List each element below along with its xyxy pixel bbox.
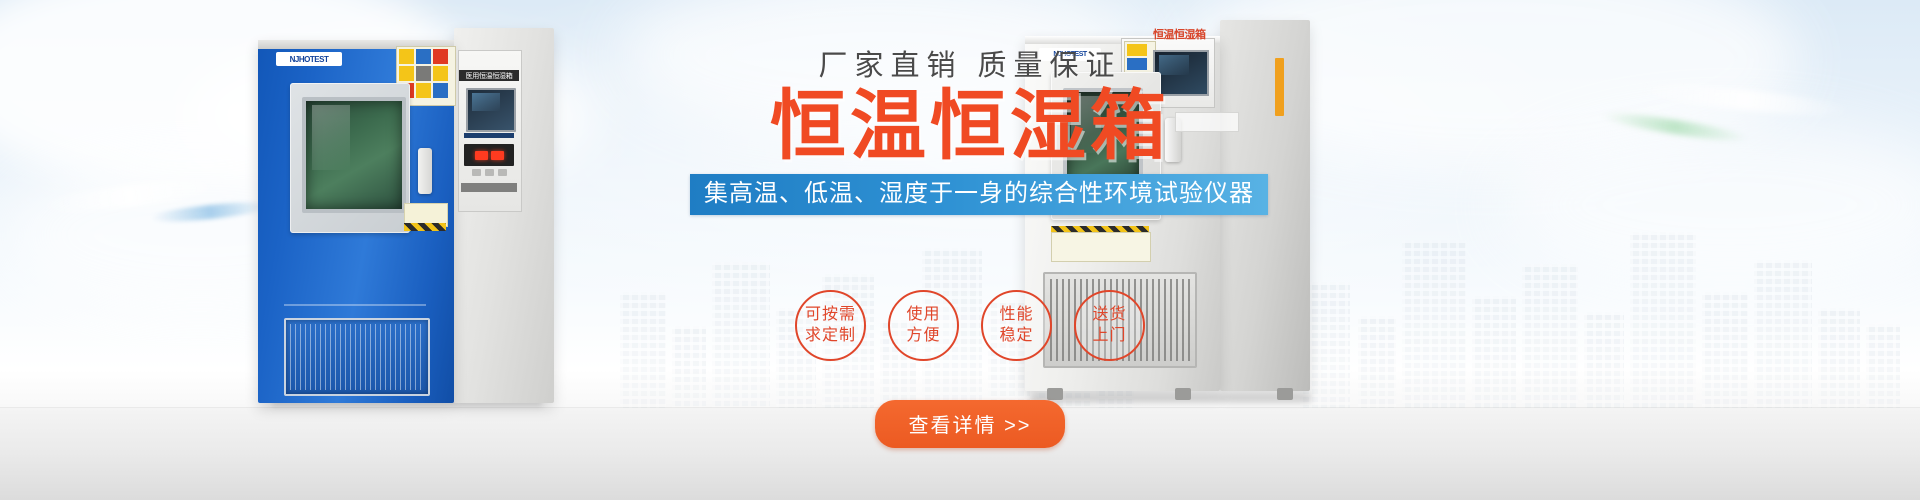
chamber-foot	[1277, 388, 1293, 400]
badge-line-1: 使用	[906, 305, 940, 325]
chamber-foot	[1047, 388, 1063, 400]
control-panel-screen	[466, 88, 516, 132]
badge-line-2: 稳定	[999, 326, 1033, 346]
chamber-door	[290, 83, 410, 233]
chamber-seam	[284, 304, 426, 306]
banner-subtitle-bar: 集高温、低温、湿度于一身的综合性环境试验仪器	[690, 174, 1268, 215]
control-panel-strip	[464, 133, 514, 138]
city-skyline-right	[1300, 212, 1900, 412]
chamber-vent-grille	[284, 318, 430, 396]
badge-line-2: 方便	[906, 326, 940, 346]
product-image-blue-chamber: NJHOTEST 医用恒温恒湿箱	[258, 28, 558, 403]
badge-line-2: 上门	[1092, 326, 1126, 346]
chamber-brand-text: 恒温恒湿箱	[1153, 26, 1219, 40]
feature-badge-row: 可按需 求定制 使用 方便 性能 稳定 送货 上门	[690, 290, 1250, 361]
cta-wrapper: 查看详情 >>	[690, 400, 1250, 448]
hazard-stripe	[404, 223, 446, 231]
promo-banner: NJHOTEST 医用恒温恒湿箱 NJHOTEST	[0, 0, 1920, 500]
chamber-logo: NJHOTEST	[276, 52, 342, 66]
chamber-foot	[1175, 388, 1191, 400]
feature-badge-stable[interactable]: 性能 稳定	[981, 290, 1052, 361]
control-panel-title: 医用恒温恒湿箱	[459, 70, 519, 81]
chamber-door-handle	[418, 148, 432, 194]
chamber-viewing-window	[302, 97, 406, 213]
badge-line-1: 送货	[1092, 305, 1126, 325]
chamber-orange-accent	[1275, 58, 1284, 116]
badge-line-2: 求定制	[805, 326, 856, 346]
feature-badge-custom[interactable]: 可按需 求定制	[795, 290, 866, 361]
badge-line-1: 性能	[999, 305, 1033, 325]
view-details-button[interactable]: 查看详情 >>	[875, 400, 1066, 448]
chamber-info-label	[1051, 232, 1151, 262]
control-panel-footer-text	[461, 183, 517, 192]
control-panel-buttons	[464, 169, 514, 178]
banner-text-block: 厂家直销 质量保证 恒温恒湿箱 集高温、低温、湿度于一身的综合性环境试验仪器	[690, 52, 1250, 215]
badge-line-1: 可按需	[805, 305, 856, 325]
feature-badge-easy-use[interactable]: 使用 方便	[888, 290, 959, 361]
banner-headline: 恒温恒湿箱	[690, 88, 1250, 166]
banner-tagline: 厂家直销 质量保证	[690, 52, 1250, 81]
control-panel-led-display	[464, 144, 514, 166]
feature-badge-delivery[interactable]: 送货 上门	[1074, 290, 1145, 361]
